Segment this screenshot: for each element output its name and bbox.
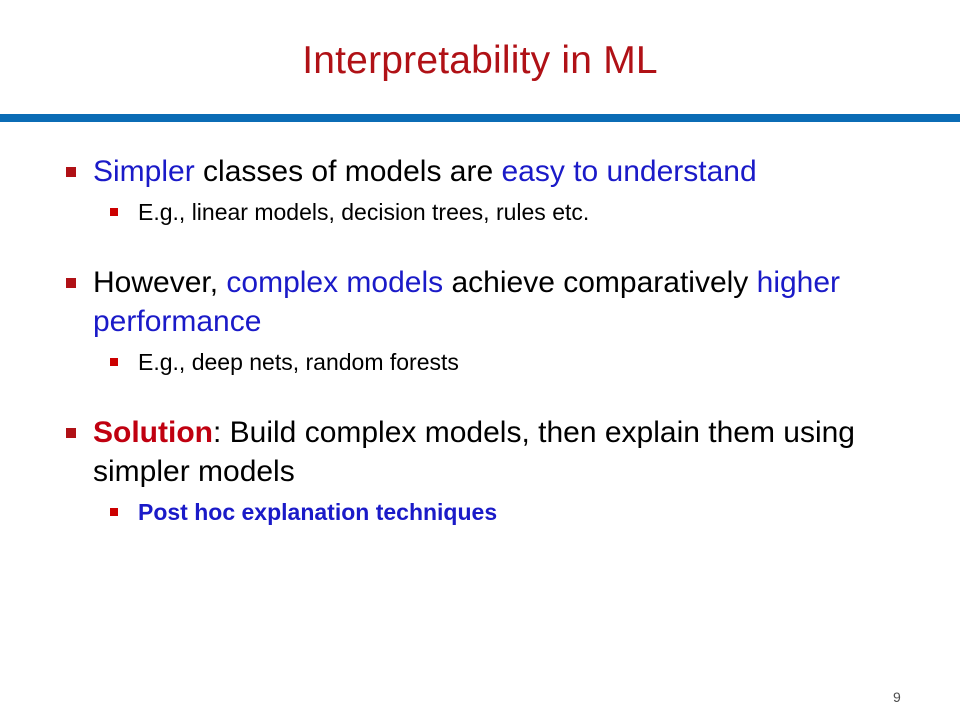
bullet-marker-icon [66, 428, 76, 438]
sub-bullet-marker-icon [110, 208, 118, 216]
slide-canvas: Interpretability in ML Simpler classes o… [0, 0, 960, 720]
page-number: 9 [893, 689, 901, 705]
bullet-text-segment: complex models [226, 266, 451, 299]
sub-bullet-text-segment: E.g., deep nets, random forests [138, 349, 459, 375]
sub-bullet-text-segment: Post hoc explanation techniques [138, 499, 497, 525]
bullet-marker-icon [66, 278, 76, 288]
bullet-text-segment: Simpler [93, 155, 203, 188]
bullet-text-segment: achieve comparatively [451, 266, 756, 299]
bullet-text-segment: However, [93, 266, 226, 299]
bullet-item: Simpler classes of models are easy to un… [0, 152, 960, 191]
bullet-item: Solution: Build complex models, then exp… [0, 413, 960, 491]
bullet-text-segment: classes of models are [203, 155, 501, 188]
sub-bullet-item: E.g., linear models, decision trees, rul… [0, 197, 960, 227]
bullet-group-spacer [0, 227, 960, 263]
bullet-marker-icon [66, 167, 76, 177]
bullet-item: However, complex models achieve comparat… [0, 263, 960, 341]
bullet-group-spacer [0, 377, 960, 413]
page-title: Interpretability in ML [0, 38, 960, 84]
title-divider-rule [0, 114, 960, 122]
sub-bullet-text-segment: E.g., linear models, decision trees, rul… [138, 199, 589, 225]
sub-bullet-marker-icon [110, 508, 118, 516]
sub-bullet-marker-icon [110, 358, 118, 366]
bullet-text-segment: Solution [93, 416, 213, 449]
sub-bullet-item: E.g., deep nets, random forests [0, 347, 960, 377]
bullet-text-segment: easy to understand [502, 155, 757, 188]
slide-body: Simpler classes of models are easy to un… [0, 152, 960, 527]
sub-bullet-item: Post hoc explanation techniques [0, 497, 960, 527]
